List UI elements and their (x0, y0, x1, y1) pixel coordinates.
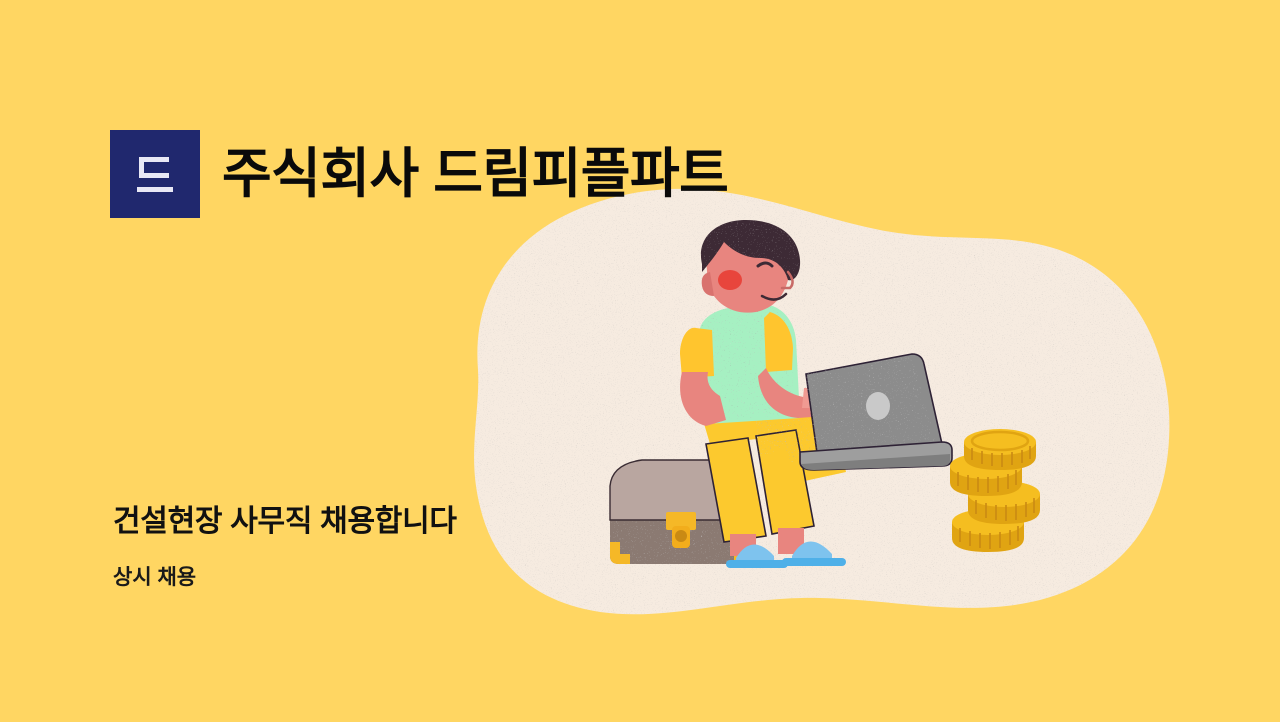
job-posting-banner: 주식회사 드림피플파트 (0, 0, 1280, 722)
brand-header: 주식회사 드림피플파트 (110, 130, 728, 218)
job-subline: 상시 채용 (113, 565, 457, 590)
page-title: 주식회사 드림피플파트 (222, 146, 728, 203)
digeut-letter-logo-icon (129, 149, 181, 199)
coin-stack (950, 429, 1040, 552)
hero-illustration (560, 220, 1080, 600)
job-headline: 건설현장 사무직 채용합니다 (113, 504, 457, 540)
shoes (726, 528, 846, 568)
copy-block: 건설현장 사무직 채용합니다 상시 채용 (113, 504, 457, 590)
person-head (701, 220, 800, 313)
logo-badge (110, 130, 200, 218)
laptop (800, 352, 952, 470)
